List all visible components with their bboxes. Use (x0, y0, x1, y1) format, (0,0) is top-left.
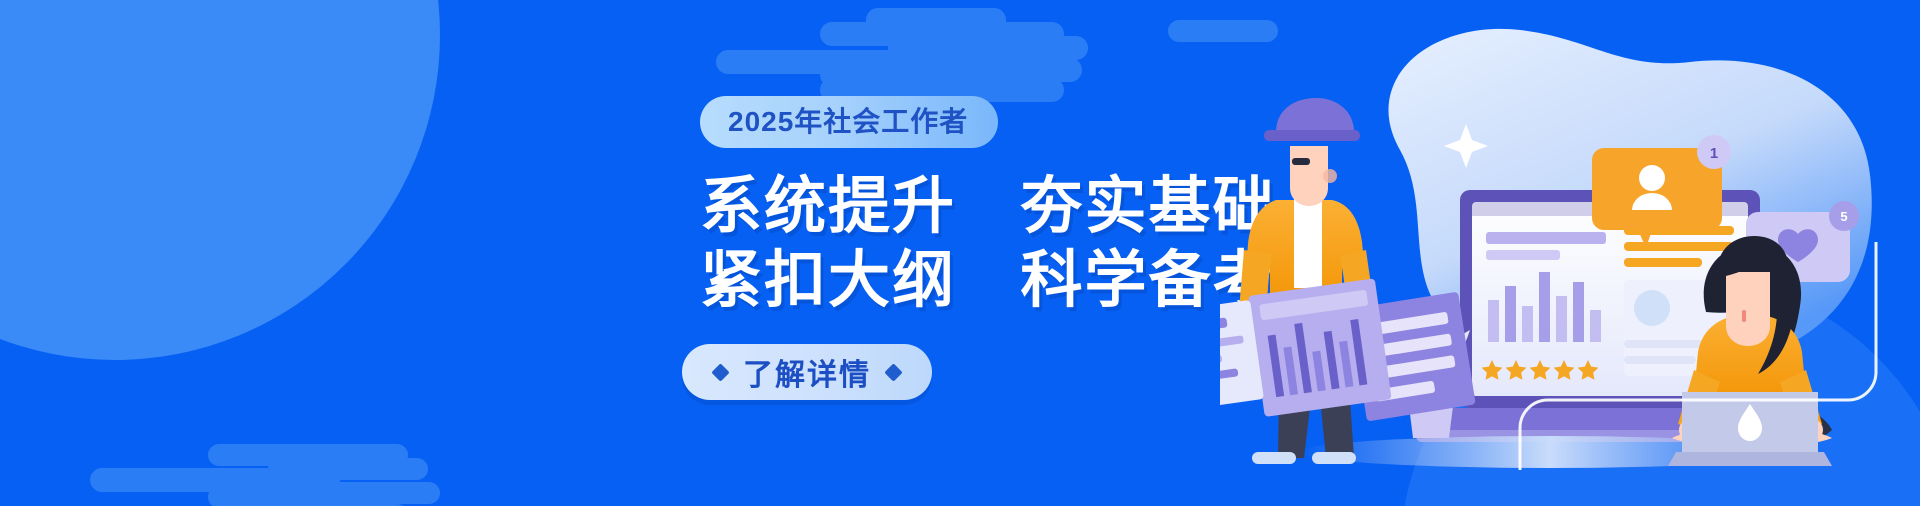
decor-circle-top-left (0, 0, 440, 360)
decor-cloud-bars-bottom (90, 438, 490, 506)
dashboard-panels (1220, 278, 1476, 421)
headline-line-2-part-a: 紧扣大纲 (700, 246, 956, 315)
user-badge-count: 1 (1710, 145, 1718, 162)
hero-illustration: 1 5 (1220, 0, 1920, 506)
diamond-right-icon (884, 363, 902, 381)
headline-line-1-part-a: 系统提升 (700, 172, 956, 241)
learn-more-button[interactable]: 了解详情 (682, 344, 932, 400)
promo-banner: 2025年社会工作者 系统提升 夯实基础 紧扣大纲 科学备考 了解详情 (0, 0, 1920, 506)
like-badge-count: 5 (1840, 209, 1847, 224)
course-tag-badge: 2025年社会工作者 (700, 96, 998, 148)
decor-cloud-bars-top (716, 8, 1176, 104)
diamond-left-icon (711, 363, 729, 381)
learn-more-label: 了解详情 (743, 350, 871, 394)
laptop (1668, 392, 1832, 466)
